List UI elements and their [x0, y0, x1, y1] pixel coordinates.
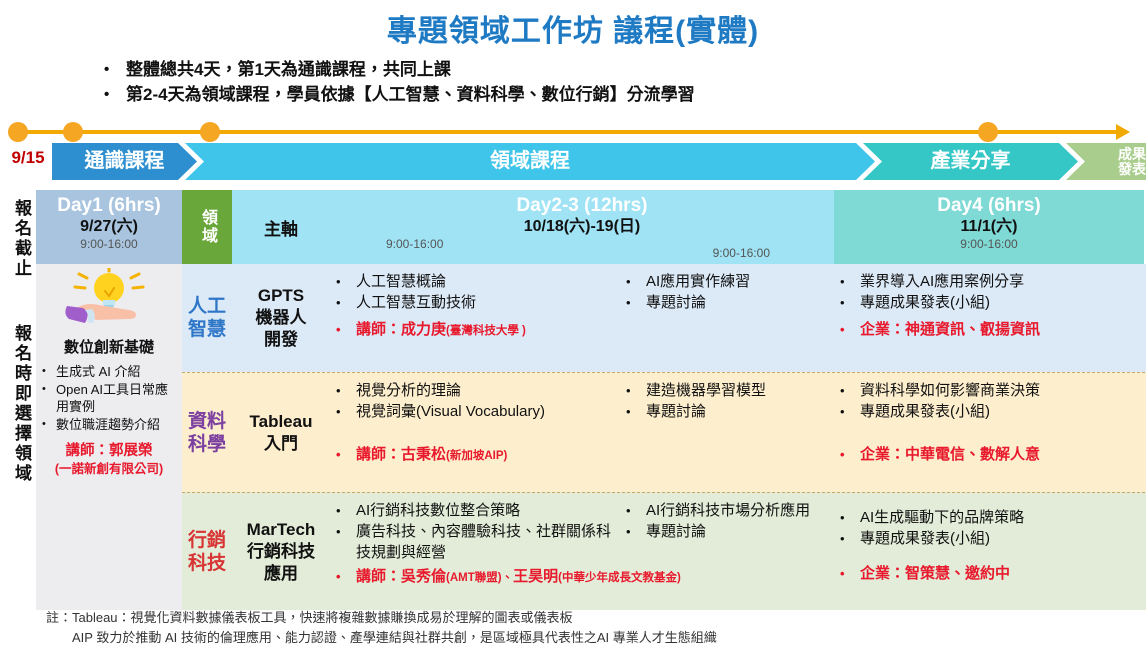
table-row: 行銷 科技 MarTech 行銷科技 應用 •AI行銷科技數位整合策略 •廣告科… [182, 492, 1146, 610]
instructor-item: •講師：古秉松(新加坡AIP) [336, 444, 616, 467]
table-body: 數位創新基礎 • 生成式 AI 介紹 • Open AI工具日常應用實例 • 數… [36, 264, 1144, 610]
list-item: •人工智慧互動技術 [336, 292, 616, 313]
instructor-name: 講師：古秉松 [356, 446, 446, 463]
timeline-date-badge: 9/15 [4, 148, 52, 168]
row-domain-mk: 行銷 科技 [182, 493, 232, 610]
footnote-line-2: AIP 致力於推動 AI 技術的倫理應用、能力認證、產學連結與社群共創，是區域極… [46, 628, 1136, 648]
phase-chevron-general[interactable]: 通識課程 [52, 143, 197, 180]
bullet-dot-icon: • [336, 401, 356, 422]
bullet-dot-icon: • [336, 292, 356, 313]
bullet-dot-icon: • [336, 566, 356, 587]
bullet-dot-icon: • [336, 500, 356, 521]
day1-list-item: • 數位職涯趨勢介紹 [42, 416, 176, 433]
phase-chevron-domain[interactable]: 領域課程 [185, 143, 875, 180]
row-axis-ds: Tableau 入門 [232, 373, 330, 492]
instructor-org: (AMT聯盟)、 [446, 572, 513, 584]
header-day23-day: Day2-3 (12hrs) [330, 190, 834, 217]
bullet-dot-icon: • [840, 401, 860, 422]
bullet-dot-icon: • [840, 444, 860, 465]
header-day4-date: 11/1(六) [834, 217, 1144, 236]
bullet-dot-icon: • [42, 363, 56, 380]
instructor-name: 講師：吳秀倫 [356, 568, 446, 585]
row-domain-ai: 人工 智慧 [182, 264, 232, 372]
table-row: 資料 科學 Tableau 入門 •視覺分析的理論 •視覺詞彙(Visual V… [182, 372, 1146, 492]
timeline-dot [63, 122, 83, 142]
list-item: •AI行銷科技市場分析應用 [626, 500, 830, 521]
header-axis-label: 主軸 [264, 215, 298, 240]
list-item-text: 專題成果發表(小組) [860, 401, 1140, 422]
header-cell-axis: 主軸 [232, 190, 330, 264]
agenda-table: Day1 (6hrs) 9/27(六) 9:00-16:00 領域 主軸 Day… [36, 190, 1144, 610]
timeline-dot [8, 122, 28, 142]
instructor-name-2: 王昊明 [513, 568, 558, 585]
list-item: •專題成果發表(小組) [840, 528, 1140, 549]
timeline-dot [978, 122, 998, 142]
footnote: 註：Tableau：視覺化資料數據儀表板工具，快速將複雜數據賺換成易於理解的圖表… [46, 608, 1136, 648]
header-day4-day: Day4 (6hrs) [834, 190, 1144, 217]
list-item-text: AI應用實作練習 [646, 271, 830, 292]
table-row: 人工 智慧 GPTS 機器人 開發 •人工智慧概論 •人工智慧互動技術 •講師：… [182, 264, 1146, 372]
company-item: •企業：神通資訊、叡揚資訊 [840, 319, 1140, 340]
row-mk-day23-col1: •AI行銷科技數位整合策略 •廣告科技、內容體驗科技、社群關係科技規劃與經營 •… [330, 493, 620, 610]
timeline-arrow [0, 120, 1146, 144]
header-cell-day4: Day4 (6hrs) 11/1(六) 9:00-16:00 [834, 190, 1144, 264]
rail-domain-choice-label: 報名時即選擇領域 [4, 304, 34, 504]
list-item-text: AI行銷科技市場分析應用 [646, 500, 830, 521]
header-cell-domain: 領域 [182, 190, 232, 264]
company-item: •企業：中華電信、數解人意 [840, 444, 1140, 465]
list-item-text: AI生成驅動下的品牌策略 [860, 507, 1140, 528]
list-item: •AI生成驅動下的品牌策略 [840, 507, 1140, 528]
header-domain-label: 領域 [195, 209, 219, 245]
company-item: •企業：智策慧、邀約中 [840, 563, 1140, 584]
day1-list-item: • Open AI工具日常應用實例 [42, 381, 176, 415]
intro-bullet-text: 整體總共4天，第1天為通識課程，共同上課 [126, 57, 451, 82]
bullet-dot-icon: • [104, 57, 126, 82]
list-item-text: 視覺分析的理論 [356, 380, 616, 401]
day1-instructor-name: 講師：郭展榮 [66, 443, 153, 459]
bullet-dot-icon: • [840, 563, 860, 584]
row-ds-day23-col1: •視覺分析的理論 •視覺詞彙(Visual Vocabulary) •講師：古秉… [330, 373, 620, 492]
list-item-text: 人工智慧概論 [356, 271, 616, 292]
header-day1-date: 9/27(六) [36, 217, 182, 236]
header-cell-day1: Day1 (6hrs) 9/27(六) 9:00-16:00 [36, 190, 182, 264]
bullet-dot-icon: • [840, 319, 860, 340]
row-mk-day4: •AI生成驅動下的品牌策略 •專題成果發表(小組) •企業：智策慧、邀約中 [834, 493, 1144, 610]
domain-rows: 人工 智慧 GPTS 機器人 開發 •人工智慧概論 •人工智慧互動技術 •講師：… [182, 264, 1144, 610]
list-item-text: 建造機器學習模型 [646, 380, 830, 401]
list-item: •專題討論 [626, 401, 830, 422]
list-item: •資料科學如何影響商業決策 [840, 380, 1140, 401]
row-mk-day23-col2: •AI行銷科技市場分析應用 •專題討論 [620, 493, 834, 610]
list-item: •專題討論 [626, 521, 830, 542]
header-cell-day23: Day2-3 (12hrs) 10/18(六)-19(日) 9:00-16:00… [330, 190, 834, 264]
phase-label: 成果 發表 [1118, 147, 1146, 176]
list-item: •業界導入AI應用案例分享 [840, 271, 1140, 292]
list-item-text: 專題成果發表(小組) [860, 292, 1140, 313]
bullet-dot-icon: • [840, 271, 860, 292]
intro-bullet-list: • 整體總共4天，第1天為通識課程，共同上課 • 第2-4天為領域課程，學員依據… [104, 57, 1064, 107]
instructor-org: (臺灣科技大學 ) [446, 325, 526, 337]
company-text: 企業：中華電信、數解人意 [860, 444, 1140, 465]
day1-item-text: 生成式 AI 介紹 [56, 363, 141, 380]
instructor-org: (新加坡AIP) [446, 450, 507, 462]
page-title: 專題領域工作坊 議程(實體) [0, 6, 1146, 50]
instructor-item: •講師：成力庚(臺灣科技大學 ) [336, 319, 616, 342]
header-day23-date: 10/18(六)-19(日) [330, 217, 834, 236]
row-axis-mk: MarTech 行銷科技 應用 [232, 493, 330, 610]
intro-bullet-item: • 整體總共4天，第1天為通識課程，共同上課 [104, 57, 1064, 82]
list-item-text: 廣告科技、內容體驗科技、社群關係科技規劃與經營 [356, 521, 616, 563]
bullet-dot-icon: • [626, 380, 646, 401]
bullet-dot-icon: • [626, 401, 646, 422]
bullet-dot-icon: • [336, 271, 356, 292]
list-item-text: 業界導入AI應用案例分享 [860, 271, 1140, 292]
bullet-dot-icon: • [840, 292, 860, 313]
left-rail: 報名截止 報名時即選擇領域 [4, 186, 34, 606]
bullet-dot-icon: • [840, 507, 860, 528]
bullet-dot-icon: • [104, 82, 126, 107]
bullet-dot-icon: • [626, 521, 646, 542]
list-item: •建造機器學習模型 [626, 380, 830, 401]
list-item-text: 專題討論 [646, 521, 830, 542]
header-day1-day: Day1 (6hrs) [36, 190, 182, 217]
list-item: •專題成果發表(小組) [840, 292, 1140, 313]
day1-list-item: • 生成式 AI 介紹 [42, 363, 176, 380]
bullet-dot-icon: • [336, 444, 356, 465]
list-item-text: AI行銷科技數位整合策略 [356, 500, 616, 521]
list-item-text: 人工智慧互動技術 [356, 292, 616, 313]
list-item: •視覺詞彙(Visual Vocabulary) [336, 401, 616, 422]
list-item: •人工智慧概論 [336, 271, 616, 292]
day1-content-cell: 數位創新基礎 • 生成式 AI 介紹 • Open AI工具日常應用實例 • 數… [36, 264, 182, 610]
list-item-text: 視覺詞彙(Visual Vocabulary) [356, 401, 616, 422]
bullet-dot-icon: • [840, 380, 860, 401]
day1-instructor: 講師：郭展榮 (一諾新創有限公司) [42, 442, 176, 478]
row-domain-ds: 資料 科學 [182, 373, 232, 492]
list-item: •專題討論 [626, 292, 830, 313]
list-item: •專題成果發表(小組) [840, 401, 1140, 422]
phase-label: 通識課程 [85, 151, 165, 172]
instructor-name: 講師：成力庚 [356, 321, 446, 338]
day1-item-text: 數位職涯趨勢介紹 [56, 416, 160, 433]
rail-deadline-label: 報名截止 [4, 186, 34, 291]
company-text: 企業：智策慧、邀約中 [860, 563, 1140, 584]
list-item: •AI行銷科技數位整合策略 [336, 500, 616, 521]
list-item: •視覺分析的理論 [336, 380, 616, 401]
phase-chevron-industry[interactable]: 產業分享 [863, 143, 1078, 180]
bullet-dot-icon: • [336, 319, 356, 340]
list-item: •AI應用實作練習 [626, 271, 830, 292]
header-day1-time: 9:00-16:00 [36, 236, 182, 252]
intro-bullet-item: • 第2-4天為領域課程，學員依據【人工智慧、資料科學、數位行銷】分流學習 [104, 82, 1064, 107]
row-ai-day4: •業界導入AI應用案例分享 •專題成果發表(小組) •企業：神通資訊、叡揚資訊 [834, 264, 1144, 372]
day1-instructor-org: (一諾新創有限公司) [42, 460, 176, 478]
bullet-dot-icon: • [336, 380, 356, 401]
list-item-text: 專題討論 [646, 401, 830, 422]
lightbulb-hand-icon [49, 268, 169, 334]
timeline-dot [200, 122, 220, 142]
row-ai-day23-col2: •AI應用實作練習 •專題討論 [620, 264, 834, 372]
bullet-dot-icon: • [626, 500, 646, 521]
bullet-dot-icon: • [42, 381, 56, 415]
phase-banner: 通識課程 領域課程 產業分享 成果 發表 [52, 143, 1146, 180]
timeline-line [14, 130, 1118, 134]
phase-label: 領域課程 [490, 151, 570, 172]
day1-title: 數位創新基礎 [42, 336, 176, 357]
list-item-text: 資料科學如何影響商業決策 [860, 380, 1140, 401]
footnote-line-1: 註：Tableau：視覺化資料數據儀表板工具，快速將複雜數據賺換成易於理解的圖表… [46, 608, 1136, 628]
header-day23-time-right: 9:00-16:00 [713, 246, 770, 260]
row-ds-day23-col2: •建造機器學習模型 •專題討論 [620, 373, 834, 492]
bullet-dot-icon: • [840, 528, 860, 549]
row-axis-ai: GPTS 機器人 開發 [232, 264, 330, 372]
list-item: •廣告科技、內容體驗科技、社群關係科技規劃與經營 [336, 521, 616, 563]
bullet-dot-icon: • [626, 292, 646, 313]
instructor-item: •講師：吳秀倫(AMT聯盟)、王昊明(中華少年成長文教基金) [336, 566, 616, 589]
phase-label: 產業分享 [931, 151, 1011, 172]
timeline-arrowhead-icon [1116, 124, 1130, 140]
bullet-dot-icon: • [626, 271, 646, 292]
header-day4-time: 9:00-16:00 [834, 236, 1144, 252]
company-text: 企業：神通資訊、叡揚資訊 [860, 319, 1140, 340]
phase-chevron-results[interactable]: 成果 發表 [1066, 143, 1146, 180]
table-header-row: Day1 (6hrs) 9/27(六) 9:00-16:00 領域 主軸 Day… [36, 190, 1144, 264]
day1-item-text: Open AI工具日常應用實例 [56, 381, 176, 415]
bullet-dot-icon: • [42, 416, 56, 433]
row-ds-day4: •資料科學如何影響商業決策 •專題成果發表(小組) •企業：中華電信、數解人意 [834, 373, 1144, 492]
list-item-text: 專題成果發表(小組) [860, 528, 1140, 549]
intro-bullet-text: 第2-4天為領域課程，學員依據【人工智慧、資料科學、數位行銷】分流學習 [126, 82, 695, 107]
row-ai-day23-col1: •人工智慧概論 •人工智慧互動技術 •講師：成力庚(臺灣科技大學 ) [330, 264, 620, 372]
list-item-text: 專題討論 [646, 292, 830, 313]
bullet-dot-icon: • [336, 521, 356, 542]
